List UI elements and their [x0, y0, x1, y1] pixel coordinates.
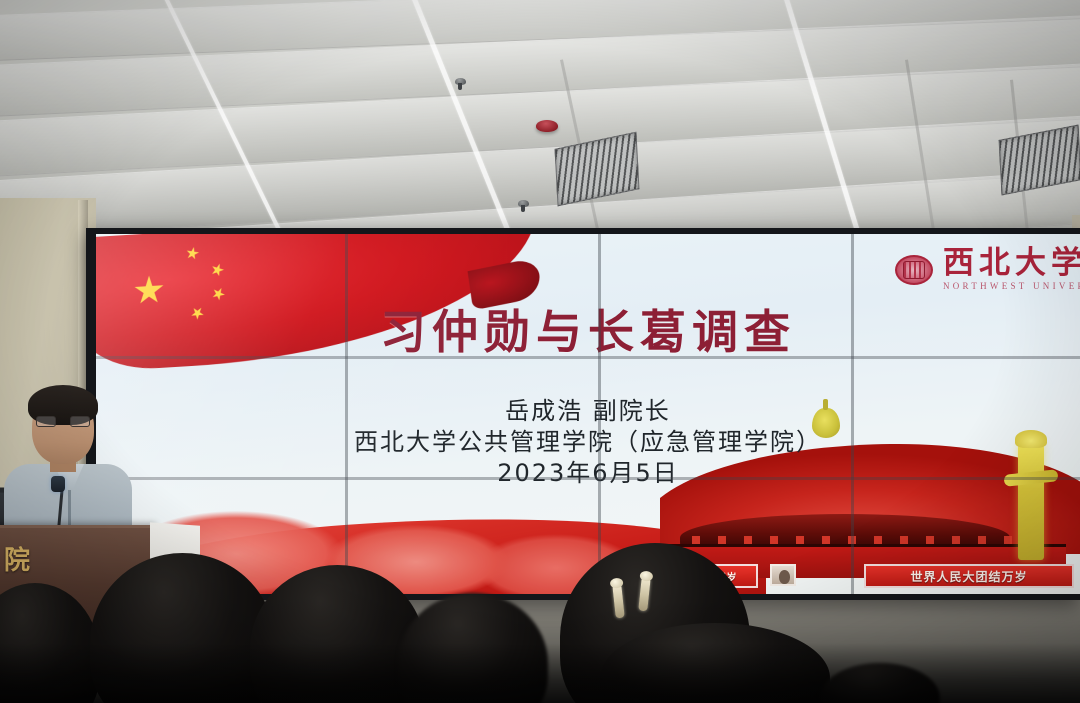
university-seal-icon: [895, 255, 933, 285]
podium-label: 学院: [0, 540, 38, 577]
presentation-screen[interactable]: 共和国万岁 世界人民大团结万岁 西北大学 NORTHWEST UNIVERSIT…: [96, 234, 1080, 594]
microphone-icon: [51, 476, 65, 492]
ceiling: [0, 0, 1080, 248]
panel-seam-horizontal: [96, 356, 1080, 359]
panel-seam-vertical: [345, 234, 348, 594]
smoke-detector-icon: [536, 120, 558, 132]
subtitle-line-date: 2023年6月5日: [96, 458, 1080, 489]
subtitle-line-affiliation: 西北大学公共管理学院（应急管理学院）: [96, 427, 1080, 458]
subtitle-line-presenter: 岳成浩 副院长: [96, 396, 1080, 427]
panel-seam-vertical: [851, 234, 854, 594]
eyeglasses-icon: [36, 416, 90, 428]
slide-title: 习仲勋与长葛调查: [96, 296, 1080, 362]
lecture-hall-scene: 共和国万岁 世界人民大团结万岁 西北大学 NORTHWEST UNIVERSIT…: [0, 0, 1080, 703]
logo-chinese-name: 西北大学: [943, 248, 1080, 279]
university-logo: 西北大学 NORTHWEST UNIVERSITY: [895, 248, 1080, 291]
panel-seam-horizontal: [96, 477, 1080, 480]
sprinkler-head-icon: [518, 200, 529, 207]
sprinkler-head-icon: [455, 78, 466, 85]
slide-subtitle-block: 岳成浩 副院长 西北大学公共管理学院（应急管理学院） 2023年6月5日: [96, 396, 1080, 490]
banner-right: 世界人民大团结万岁: [864, 564, 1074, 588]
panel-seam-vertical: [598, 234, 601, 594]
gate-portrait: [770, 564, 796, 586]
logo-english-name: NORTHWEST UNIVERSITY: [943, 282, 1080, 291]
